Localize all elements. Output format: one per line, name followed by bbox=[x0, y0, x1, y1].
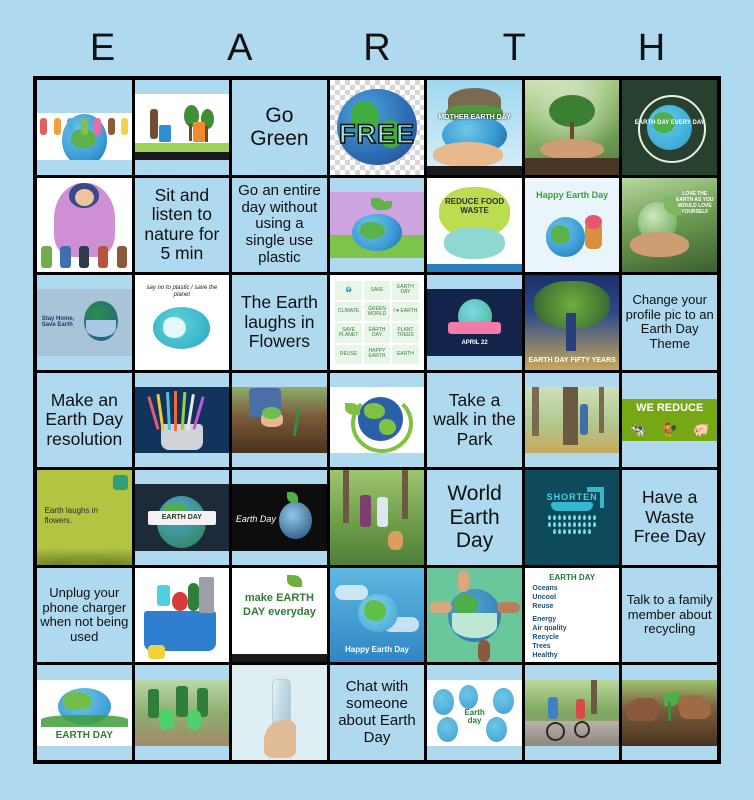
bingo-cell-text: Go an entire day without using a single … bbox=[232, 181, 327, 269]
bingo-cell-r3c6[interactable]: EARTH DAY FIFTY YEARS bbox=[525, 275, 620, 370]
chicken-icon: 🐓 bbox=[662, 422, 678, 438]
bingo-cell-r1c5[interactable]: MOTHER EARTH DAY bbox=[427, 80, 522, 175]
bingo-cell-r7c2[interactable] bbox=[135, 665, 230, 760]
bingo-cell-r5c5[interactable]: World Earth Day bbox=[427, 470, 522, 565]
bingo-cell-r6c1[interactable]: Unplug your phone charger when not being… bbox=[37, 568, 132, 663]
earth-day-every-day-overlay: EARTH DAY EVERY DAY bbox=[624, 120, 715, 126]
bingo-cell-r6c4[interactable]: Happy Earth Day bbox=[330, 568, 425, 663]
bingo-cell-text: Chat with someone about Earth Day bbox=[330, 677, 425, 748]
bingo-cell-r5c7[interactable]: Have a Waste Free Day bbox=[622, 470, 717, 565]
title-letter-5: H bbox=[583, 22, 720, 74]
bingo-cell-r4c3[interactable] bbox=[232, 373, 327, 468]
free-space-label: FREE bbox=[330, 120, 425, 148]
title-letter-2: A bbox=[171, 22, 308, 74]
bingo-cell-r7c5[interactable]: Earth day bbox=[427, 665, 522, 760]
bingo-cell-r2c1[interactable] bbox=[37, 178, 132, 273]
love-the-earth-quote-overlay: LOVE THE EARTH AS YOU WOULD LOVE YOURSEL… bbox=[675, 191, 714, 215]
bingo-cell-r3c2[interactable]: say no to plastic / save the planet bbox=[135, 275, 230, 370]
bingo-cell-text: Unplug your phone charger when not being… bbox=[37, 584, 132, 646]
earth-laughs-in-flowers-card-image: Earth laughs in flowers. bbox=[37, 470, 132, 565]
cow-icon: 🐄 bbox=[630, 422, 646, 438]
bingo-cell-r5c2[interactable]: EARTH DAY bbox=[135, 470, 230, 565]
bingo-cell-r5c1[interactable]: Earth laughs in flowers. bbox=[37, 470, 132, 565]
bingo-cell-r5c4[interactable] bbox=[330, 470, 425, 565]
stay-home-save-earth-overlay: Stay Home, Save Earth bbox=[42, 316, 82, 329]
bingo-cell-r6c6[interactable]: EARTH DAY Oceans Uncool Reuse Energy Air… bbox=[525, 568, 620, 663]
bingo-cell-r1c3[interactable]: Go Green bbox=[232, 80, 327, 175]
pig-icon: 🐖 bbox=[693, 422, 709, 438]
hand-holding-sapling-image bbox=[525, 80, 620, 175]
bingo-cell-text: Talk to a family member about recycling bbox=[622, 591, 717, 639]
we-reduce-banner-image: WE REDUCE 🐄 🐓 🐖 bbox=[622, 387, 717, 453]
free-space-globe-image: FREE bbox=[330, 80, 425, 175]
title-letter-3: R bbox=[308, 22, 445, 74]
children-cycling-image bbox=[525, 680, 620, 746]
earth-day-fifty-years-overlay: EARTH DAY FIFTY YEARS bbox=[527, 357, 618, 364]
reduce-food-waste-poster-image: REDUCE FOOD WASTE bbox=[427, 178, 522, 273]
earth-day-checklist-poster-image: EARTH DAY Oceans Uncool Reuse Energy Air… bbox=[525, 568, 620, 663]
earth-day-checklist-title: EARTH DAY bbox=[531, 574, 614, 582]
bingo-cell-r5c3[interactable]: Earth Day bbox=[232, 470, 327, 565]
earth-day-logo-grass-image: EARTH DAY bbox=[37, 680, 132, 746]
say-no-to-plastic-image: say no to plastic / save the planet bbox=[135, 275, 230, 370]
hands-planting-sapling-field-image bbox=[622, 680, 717, 746]
bingo-cell-r6c2[interactable] bbox=[135, 568, 230, 663]
earth-day-ribbon-globe-image: EARTH DAY bbox=[135, 484, 230, 550]
mother-earth-day-poster-image: MOTHER EARTH DAY bbox=[427, 80, 522, 175]
bingo-cell-r3c7[interactable]: Change your profile pic to an Earth Day … bbox=[622, 275, 717, 370]
bingo-cell-r1c7[interactable]: EARTH DAY EVERY DAY bbox=[622, 80, 717, 175]
glass-globe-in-hand-image: LOVE THE EARTH AS YOU WOULD LOVE YOURSEL… bbox=[622, 178, 717, 273]
bingo-cell-text: Go Green bbox=[232, 102, 327, 153]
earth-laughs-overlay: Earth laughs in flowers. bbox=[45, 506, 124, 526]
make-earth-day-everyday-poster-image: make EARTH DAY everyday bbox=[232, 568, 327, 663]
bingo-cell-r3c3[interactable]: The Earth laughs in Flowers bbox=[232, 275, 327, 370]
bingo-page: E A R T H bbox=[0, 0, 754, 800]
bingo-cell-r3c5[interactable]: APRIL 22 bbox=[427, 275, 522, 370]
bingo-cell-r7c1[interactable]: EARTH DAY bbox=[37, 665, 132, 760]
bingo-cell-r6c7[interactable]: Talk to a family member about recycling bbox=[622, 568, 717, 663]
bingo-cell-r2c4[interactable] bbox=[330, 178, 425, 273]
bingo-cell-text: The Earth laughs in Flowers bbox=[232, 291, 327, 354]
april-22-overlay: APRIL 22 bbox=[427, 340, 522, 346]
planting-seedling-image bbox=[232, 387, 327, 453]
hands-around-masked-globe-image bbox=[427, 568, 522, 663]
happy-earth-day-overlay: Happy Earth Day bbox=[527, 191, 618, 200]
bingo-cell-r4c2[interactable] bbox=[135, 373, 230, 468]
couple-walking-dog-image bbox=[330, 470, 425, 565]
bingo-cell-r2c3[interactable]: Go an entire day without using a single … bbox=[232, 178, 327, 273]
happy-earth-day-cartoon-image: Happy Earth Day bbox=[525, 178, 620, 273]
bingo-cell-r7c4[interactable]: Chat with someone about Earth Day bbox=[330, 665, 425, 760]
earth-day-sticker-sheet-image: 🌍SAVEEARTH DAY CLIMATEGREEN WORLDI ♥ EAR… bbox=[330, 275, 425, 370]
family-cartoon-image bbox=[37, 178, 132, 273]
earth-day-every-day-badge-image: EARTH DAY EVERY DAY bbox=[622, 80, 717, 175]
seedling-on-globe-image bbox=[330, 192, 425, 258]
volunteers-litter-cleanup-image bbox=[135, 680, 230, 746]
bingo-cell-r1c2[interactable] bbox=[135, 80, 230, 175]
bingo-cell-r2c2[interactable]: Sit and listen to nature for 5 min bbox=[135, 178, 230, 273]
bingo-cell-text: Change your profile pic to an Earth Day … bbox=[622, 291, 717, 353]
reduce-food-waste-overlay: REDUCE FOOD WASTE bbox=[435, 198, 514, 216]
bingo-cell-r7c7[interactable] bbox=[622, 665, 717, 760]
bingo-cell-text: Make an Earth Day resolution bbox=[37, 389, 132, 452]
earth-day-script-overlay: Earth Day bbox=[236, 515, 276, 524]
shorten-overlay: SHORTEN bbox=[525, 493, 620, 502]
recycling-in-park-image bbox=[135, 94, 230, 160]
say-no-to-plastic-overlay: say no to plastic / save the planet bbox=[138, 285, 225, 299]
board-title-letters: E A R T H bbox=[34, 22, 720, 74]
person-at-tree-autumn-image bbox=[525, 387, 620, 453]
night-sky-earth-banner-image: APRIL 22 bbox=[427, 289, 522, 355]
title-letter-4: T bbox=[446, 22, 583, 74]
bingo-cell-r7c3[interactable] bbox=[232, 665, 327, 760]
recycling-bin-image bbox=[135, 568, 230, 663]
earth-day-logo-overlay: EARTH DAY bbox=[37, 731, 132, 742]
bingo-cell-r1c1[interactable] bbox=[37, 80, 132, 175]
globe-leaf-logo-image bbox=[330, 387, 425, 453]
bingo-cell-r1c6[interactable] bbox=[525, 80, 620, 175]
bingo-cell-text: Take a walk in the Park bbox=[427, 389, 522, 452]
children-around-globe-image bbox=[37, 94, 132, 160]
earth-day-fifty-years-tree-image: EARTH DAY FIFTY YEARS bbox=[525, 275, 620, 370]
bingo-cell-r4c4[interactable] bbox=[330, 373, 425, 468]
earth-day-masked-globes-image: Earth day bbox=[427, 680, 522, 746]
bingo-grid: Go Green FREE MOTHER EARTH DAY bbox=[33, 76, 721, 764]
happy-earth-day-clouds-image: Happy Earth Day bbox=[330, 568, 425, 663]
bingo-cell-r6c3[interactable]: make EARTH DAY everyday bbox=[232, 568, 327, 663]
bingo-cell-r3c4[interactable]: 🌍SAVEEARTH DAY CLIMATEGREEN WORLDI ♥ EAR… bbox=[330, 275, 425, 370]
bingo-cell-text: Have a Waste Free Day bbox=[622, 486, 717, 549]
bingo-cell-r2c7[interactable]: LOVE THE EARTH AS YOU WOULD LOVE YOURSEL… bbox=[622, 178, 717, 273]
bingo-cell-r5c6[interactable]: SHORTEN bbox=[525, 470, 620, 565]
seedling-earth-black-image: Earth Day bbox=[232, 484, 327, 550]
bingo-cell-r4c1[interactable]: Make an Earth Day resolution bbox=[37, 373, 132, 468]
plastic-straws-image bbox=[135, 387, 230, 453]
bingo-cell-r4c5[interactable]: Take a walk in the Park bbox=[427, 373, 522, 468]
we-reduce-overlay: WE REDUCE bbox=[622, 403, 717, 415]
stay-home-save-earth-image: Stay Home, Save Earth bbox=[37, 289, 132, 355]
happy-earth-day-clouds-overlay: Happy Earth Day bbox=[332, 646, 423, 654]
bingo-cell-r1c4-free[interactable]: FREE bbox=[330, 80, 425, 175]
shorten-your-shower-image: SHORTEN bbox=[525, 470, 620, 565]
bingo-cell-text: Sit and listen to nature for 5 min bbox=[135, 184, 230, 266]
bingo-cell-r3c1[interactable]: Stay Home, Save Earth bbox=[37, 275, 132, 370]
bingo-cell-r7c6[interactable] bbox=[525, 665, 620, 760]
bingo-cell-r4c6[interactable] bbox=[525, 373, 620, 468]
earth-day-ribbon-overlay: EARTH DAY bbox=[148, 514, 216, 521]
make-earth-day-overlay: make EARTH DAY everyday bbox=[236, 592, 323, 618]
title-letter-1: E bbox=[34, 22, 171, 74]
mother-earth-day-overlay: MOTHER EARTH DAY bbox=[431, 114, 518, 121]
bingo-cell-r2c6[interactable]: Happy Earth Day bbox=[525, 178, 620, 273]
reusable-water-bottle-image bbox=[232, 665, 327, 760]
earth-day-masked-globes-overlay: Earth day bbox=[459, 709, 489, 726]
bingo-cell-r2c5[interactable]: REDUCE FOOD WASTE bbox=[427, 178, 522, 273]
bingo-cell-r6c5[interactable] bbox=[427, 568, 522, 663]
bingo-cell-r4c7[interactable]: WE REDUCE 🐄 🐓 🐖 bbox=[622, 373, 717, 468]
bingo-cell-text: World Earth Day bbox=[427, 480, 522, 555]
